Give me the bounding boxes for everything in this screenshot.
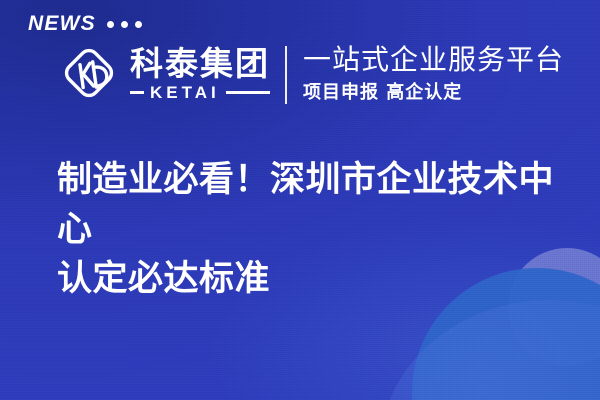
headline-line-2: 认定必达标准 (57, 254, 567, 304)
ketai-diamond-monogram-icon (58, 42, 120, 104)
tagline-main: 一站式企业服务平台 (303, 43, 564, 76)
headline: 制造业必看！深圳市企业技术中心 认定必达标准 (57, 155, 567, 304)
brand-name-en: KETAI (150, 84, 220, 101)
brand-lockup: 科泰集团 KETAI (58, 42, 270, 104)
vertical-divider (285, 46, 287, 104)
kicker-dot-icon (121, 21, 128, 28)
tagline-sub: 项目申报 高企认定 (303, 81, 564, 104)
news-kicker-label: NEWS (28, 13, 96, 34)
news-kicker: NEWS (28, 13, 142, 34)
brand-rule-left-icon (130, 91, 144, 94)
kicker-dot-icon (135, 21, 142, 28)
brand-name-cn: 科泰集团 (130, 47, 270, 81)
headline-line-1: 制造业必看！深圳市企业技术中心 (57, 155, 567, 254)
brand-text-block: 科泰集团 KETAI (130, 47, 270, 101)
brand-rule-right-icon (226, 91, 270, 94)
news-banner: NEWS 科泰集团 (0, 0, 600, 400)
tagline-block: 一站式企业服务平台 项目申报 高企认定 (303, 43, 564, 104)
kicker-dots-icon (107, 21, 142, 28)
kicker-dot-icon (107, 21, 114, 28)
brand-name-en-row: KETAI (130, 84, 270, 101)
